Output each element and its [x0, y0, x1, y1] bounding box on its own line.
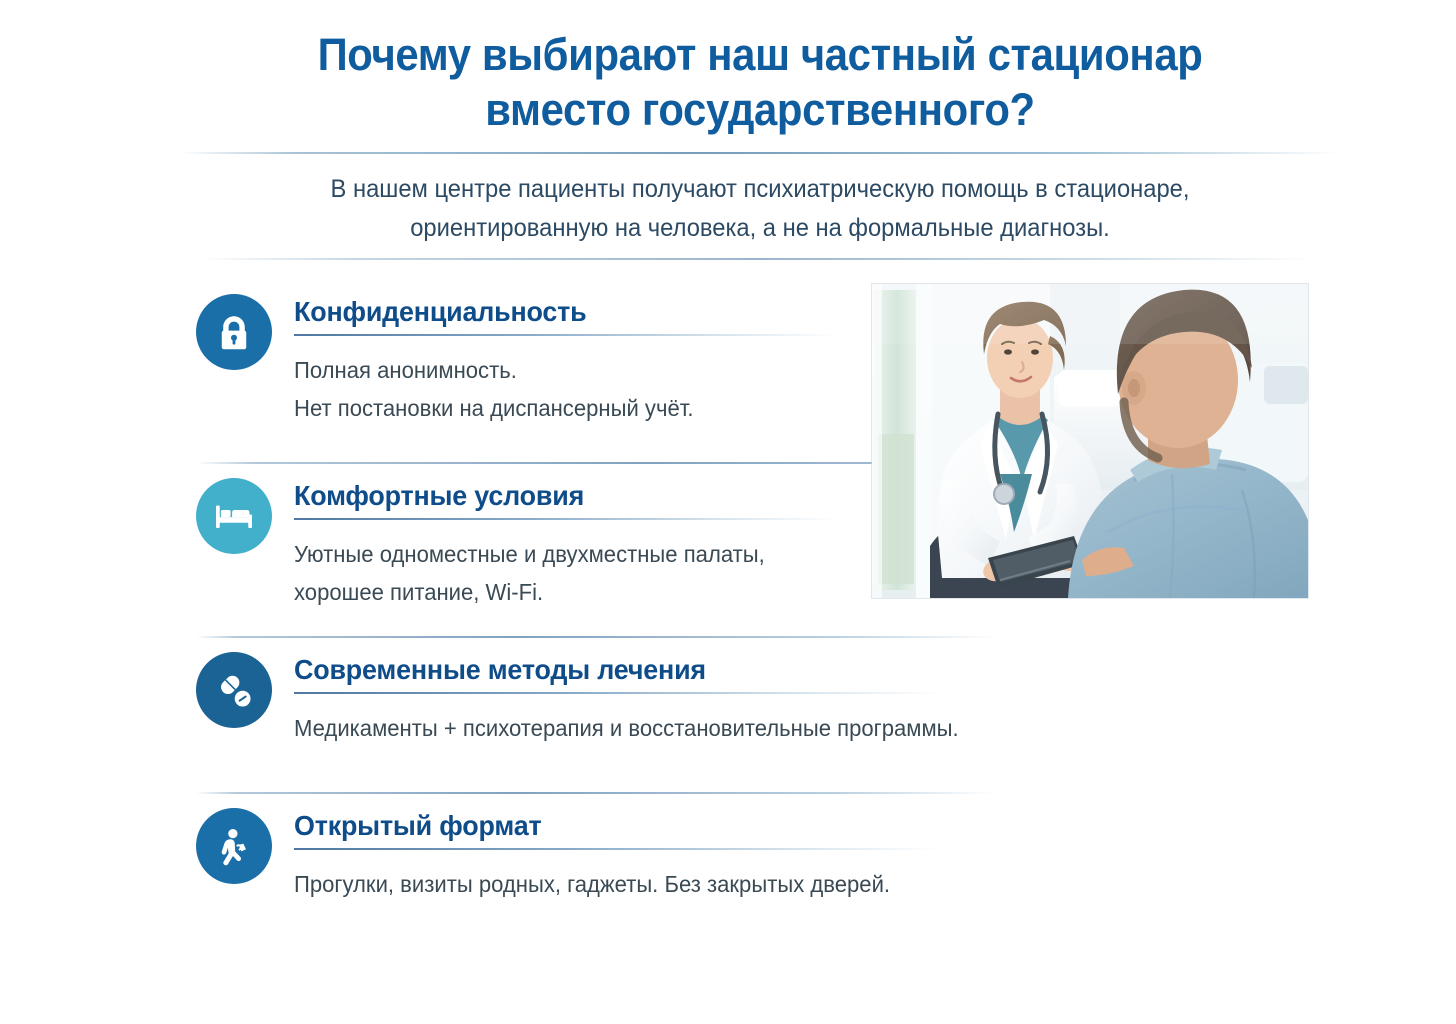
- feature-text-line: Медикаменты + психотерапия и восстановит…: [294, 710, 959, 747]
- feature-body: Конфиденциальность Полная анонимность. Н…: [294, 292, 839, 427]
- feature-divider-2: [196, 636, 996, 638]
- feature-heading-underline: [294, 518, 839, 520]
- feature-text: Медикаменты + психотерапия и восстановит…: [294, 710, 959, 747]
- subtitle-divider: [200, 258, 1315, 260]
- feature-heading: Комфортные условия: [294, 480, 817, 511]
- feature-body: Современные методы лечения Медикаменты +…: [294, 650, 986, 748]
- feature-heading: Современные методы лечения: [294, 654, 959, 685]
- feature-divider-3: [196, 792, 996, 794]
- feature-heading-underline: [294, 334, 839, 336]
- feature-item-open-format: Открытый формат Прогулки, визиты родных,…: [196, 806, 942, 904]
- walking-person-icon: [196, 808, 272, 884]
- pills-icon: [196, 652, 272, 728]
- doctor-patient-consultation-photo: [872, 284, 1308, 598]
- feature-body: Комфортные условия Уютные одноместные и …: [294, 476, 839, 611]
- feature-text: Уютные одноместные и двухместные палаты,…: [294, 536, 817, 611]
- title-divider: [180, 152, 1340, 154]
- bed-icon: [196, 478, 272, 554]
- feature-item-treatment: Современные методы лечения Медикаменты +…: [196, 650, 986, 748]
- feature-item-confidentiality: Конфиденциальность Полная анонимность. Н…: [196, 292, 839, 427]
- feature-text-line: Уютные одноместные и двухместные палаты,: [294, 536, 817, 573]
- feature-body: Открытый формат Прогулки, визиты родных,…: [294, 806, 942, 904]
- feature-text: Прогулки, визиты родных, гаджеты. Без за…: [294, 866, 916, 903]
- infographic-slide: Почему выбирают наш частный стационар вм…: [0, 0, 1456, 1024]
- page-title-line-1: Почему выбирают наш частный стационар: [221, 28, 1300, 83]
- page-title-line-2: вместо государственного?: [221, 83, 1300, 138]
- feature-text-line: Прогулки, визиты родных, гаджеты. Без за…: [294, 866, 916, 903]
- feature-text-line: Нет постановки на диспансерный учёт.: [294, 390, 817, 427]
- subtitle-line-2: ориентированную на человека, а не на фор…: [209, 209, 1311, 248]
- page-title: Почему выбирают наш частный стационар вм…: [180, 28, 1340, 138]
- feature-text: Полная анонимность. Нет постановки на ди…: [294, 352, 817, 427]
- feature-heading: Открытый формат: [294, 810, 916, 841]
- subtitle: В нашем центре пациенты получают психиат…: [209, 170, 1311, 248]
- subtitle-line-1: В нашем центре пациенты получают психиат…: [209, 170, 1311, 209]
- feature-text-line: Полная анонимность.: [294, 352, 817, 389]
- feature-heading-underline: [294, 692, 942, 694]
- lock-icon: [196, 294, 272, 370]
- feature-text-line: хорошее питание, Wi-Fi.: [294, 574, 817, 611]
- feature-item-comfort: Комфортные условия Уютные одноместные и …: [196, 476, 839, 611]
- feature-heading-underline: [294, 848, 942, 850]
- feature-heading: Конфиденциальность: [294, 296, 817, 327]
